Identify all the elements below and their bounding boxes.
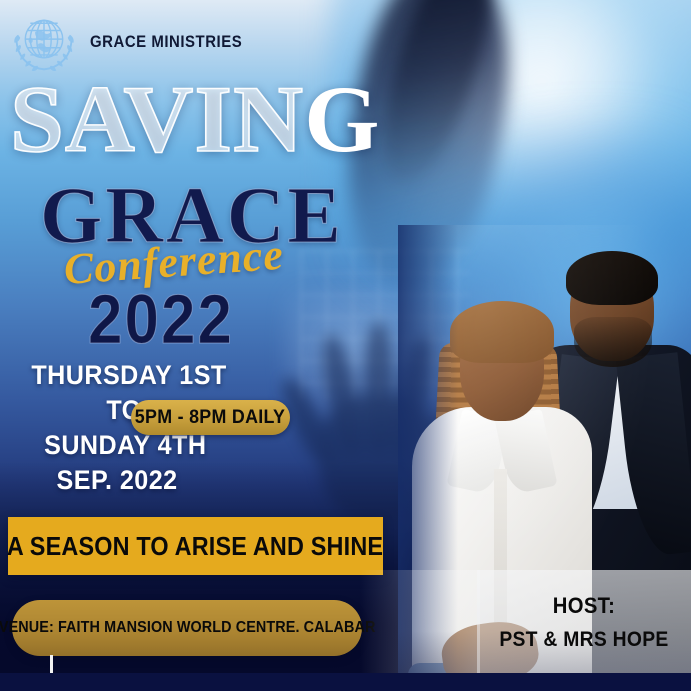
event-flyer: GRACE MINISTRIES SAVING GRACE Conference… (0, 0, 691, 691)
venue-label: VENUE: FAITH MANSION WORLD CENTRE. CALAB… (0, 619, 375, 637)
brand-name: GRACE MINISTRIES (90, 32, 242, 52)
title-saving-solid-part: G (304, 66, 380, 172)
theme-banner: A SEASON TO ARISE AND SHINE (8, 517, 383, 575)
theme-banner-label: A SEASON TO ARISE AND SHINE (7, 531, 383, 562)
date-month-year: SEP. 2022 (57, 465, 178, 496)
title-saving: SAVING (10, 72, 381, 167)
title-saving-ghost-part: SAVIN (10, 66, 304, 172)
date-start: THURSDAY 1ST (31, 360, 226, 391)
host-overlay-feather (360, 570, 480, 674)
time-badge: 5PM - 8PM DAILY (131, 400, 290, 435)
bottom-bar (0, 673, 691, 691)
title-year: 2022 (88, 286, 234, 355)
host-names: PST & MRS HOPE (499, 628, 668, 652)
host-overlay: HOST: PST & MRS HOPE (477, 570, 691, 674)
venue-pill: VENUE: FAITH MANSION WORLD CENTRE. CALAB… (12, 600, 362, 656)
time-badge-label: 5PM - 8PM DAILY (135, 407, 285, 429)
host-label: HOST: (553, 593, 616, 619)
